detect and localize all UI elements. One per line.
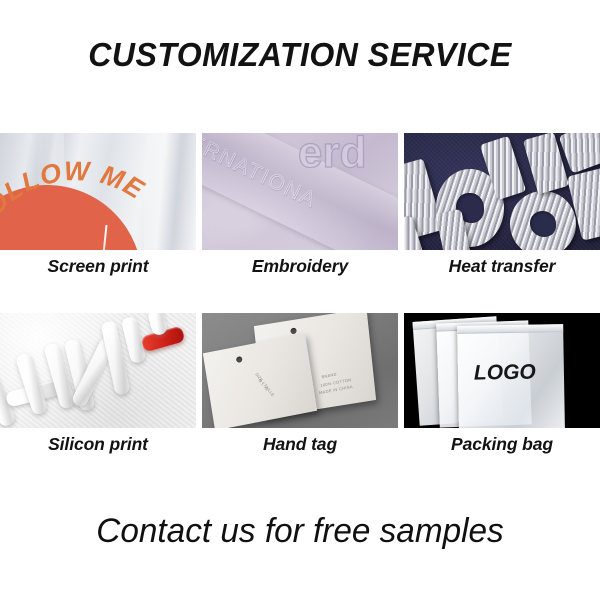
gallery-item-silicon-print[interactable]: Silicon print (0, 313, 196, 455)
tag-punch-hole (236, 356, 243, 363)
transfer-glyph-six (510, 191, 576, 250)
caption-embroidery: Embroidery (202, 250, 398, 277)
footer-cta: Contact us for free samples (6, 512, 594, 551)
customization-service-poster: CUSTOMIZATION SERVICE N'T (0, 0, 600, 601)
towel-vignette (0, 313, 196, 428)
tag-printed-text: BRAND (321, 371, 337, 379)
gallery-item-hand-tag[interactable]: BRAND 100% COTTON MADE IN CHINA SIZE / T… (202, 313, 398, 455)
bag-zip-strip (457, 324, 563, 334)
gallery-item-heat-transfer[interactable]: Heat transfer (404, 133, 600, 277)
orange-circle-graphic (0, 185, 142, 250)
hang-tag-front: SIZE / TAILLE M L XL (203, 334, 317, 428)
caption-silicon-print: Silicon print (0, 428, 196, 455)
gallery-item-screen-print[interactable]: N'T FOLLOW ME Screen print (0, 133, 196, 277)
packing-bag-image: LOGO (404, 313, 600, 428)
heat-transfer-image (404, 133, 600, 250)
embroidery-image: ERNATIONA erd ERNATIONA (202, 133, 398, 250)
tag-punch-hole (290, 328, 297, 335)
gallery-item-packing-bag[interactable]: LOGO Packing bag (404, 313, 600, 455)
caption-packing-bag: Packing bag (404, 428, 600, 455)
caption-hand-tag: Hand tag (202, 428, 398, 455)
embroidery-sheen (202, 133, 398, 250)
caption-screen-print: Screen print (0, 250, 196, 277)
hand-tag-image: BRAND 100% COTTON MADE IN CHINA SIZE / T… (202, 313, 398, 428)
packing-bag-front: LOGO (457, 324, 565, 428)
silicon-print-image (0, 313, 196, 428)
page-title: CUSTOMIZATION SERVICE (9, 36, 591, 74)
fabric-fold-shadow (144, 133, 196, 250)
bag-logo-text: LOGO (474, 361, 536, 386)
caption-heat-transfer: Heat transfer (404, 250, 600, 277)
gallery-item-embroidery[interactable]: ERNATIONA erd ERNATIONA Embroidery (202, 133, 398, 277)
screen-print-image: N'T FOLLOW ME (0, 133, 196, 250)
